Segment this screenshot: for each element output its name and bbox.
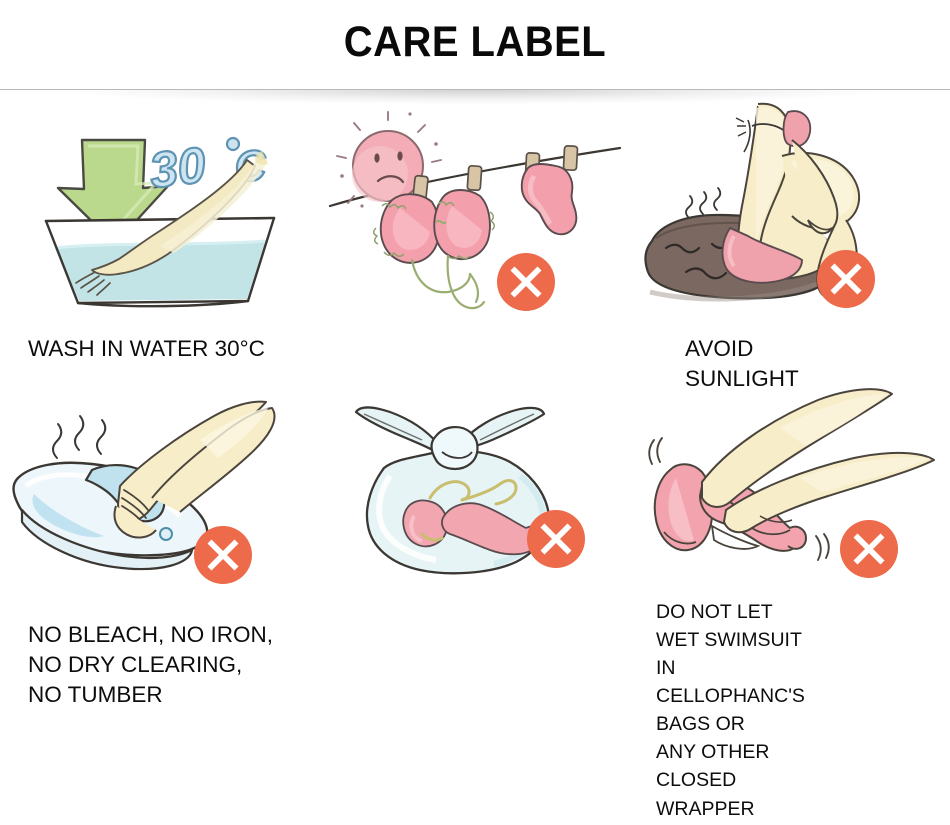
panel-wash-in-water: 30 C	[0, 96, 320, 386]
x-circle-icon	[192, 524, 254, 586]
panel-let-dry-naturally: LET DRY NATURALLY & AWAYS FROM HEAT SOUR…	[630, 386, 950, 781]
wash-basin-icon: 30 C	[0, 96, 320, 336]
x-circle-icon	[525, 508, 587, 570]
steam-lines-icon	[53, 416, 105, 458]
wringing-hands-icon	[630, 386, 950, 606]
panel-avoid-sunlight: AVOID SUNLIGHT	[320, 96, 640, 386]
woman-on-rock-icon	[630, 96, 950, 336]
x-circle-icon	[495, 251, 557, 313]
forbidden-badge	[192, 524, 254, 586]
forbidden-badge	[525, 508, 587, 570]
bikini-bottom-icon	[522, 164, 577, 234]
clothespin-icon-2	[467, 166, 482, 191]
page-title: CARE LABEL	[33, 18, 917, 67]
care-label-page: CARE LABEL 30 C	[0, 0, 950, 781]
clothespin-icon-4	[563, 146, 577, 171]
hand-iron-icon	[0, 386, 320, 616]
care-instruction-grid: 30 C	[0, 96, 950, 781]
tied-plastic-bag-icon	[320, 386, 640, 596]
panel-avoid-rough-rock: AVOID ROUGH ROCK	[630, 96, 950, 386]
vibration-lines-icon	[686, 188, 720, 218]
forbidden-badge	[838, 518, 900, 580]
x-circle-icon	[815, 248, 877, 310]
forbidden-badge	[495, 251, 557, 313]
forbidden-badge	[815, 248, 877, 310]
svg-text:30: 30	[147, 137, 209, 199]
panel-no-bleach-no-iron: NO BLEACH, NO IRON, NO DRY CLEARING, NO …	[0, 386, 320, 781]
x-circle-icon	[838, 518, 900, 580]
bikini-top-icon	[374, 190, 495, 308]
sun-clothesline-icon	[320, 96, 640, 336]
header: CARE LABEL	[0, 0, 950, 90]
bag-knot-icon	[356, 408, 544, 469]
panel-caption: WASH IN WATER 30°C	[28, 334, 265, 364]
panel-caption: NO BLEACH, NO IRON, NO DRY CLEARING, NO …	[28, 620, 273, 710]
header-divider	[0, 89, 950, 90]
panel-no-wet-swimsuit-in-bag: DO NOT LET WET SWIMSUIT IN CELLOPHANC'S …	[320, 386, 640, 781]
